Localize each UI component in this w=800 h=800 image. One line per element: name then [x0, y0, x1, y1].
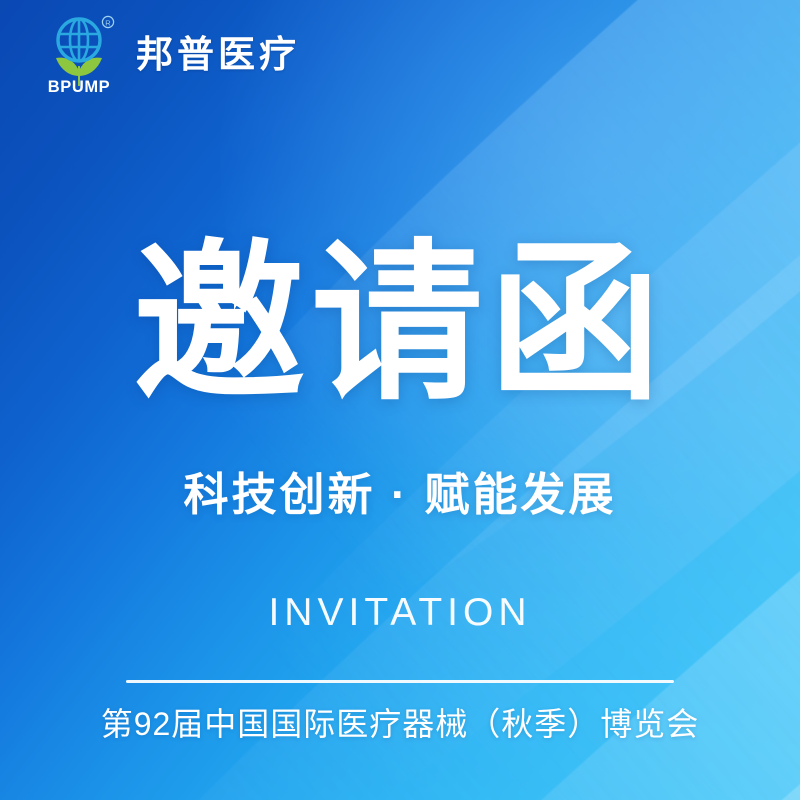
invitation-english-label: INVITATION: [268, 593, 531, 632]
bpump-wordmark-text: BPUMP: [48, 78, 111, 94]
brand-name: 邦普医疗: [136, 36, 300, 73]
poster-content: 邀请函 科技创新 · 赋能发展 INVITATION 第92届中国国际医疗器械（…: [0, 0, 800, 800]
divider-line: [126, 680, 674, 683]
sub-slogan: 科技创新 · 赋能发展: [184, 472, 617, 517]
bpump-logo-icon: R BPUMP: [42, 14, 116, 94]
registered-trademark-glyph: R: [105, 18, 111, 27]
invitation-poster: R BPUMP 邦普医疗 邀请函 科技创新 · 赋能发展 INVITATION …: [0, 0, 800, 800]
brand-header: R BPUMP 邦普医疗: [0, 0, 800, 108]
main-title: 邀请函: [133, 238, 667, 410]
event-name: 第92届中国国际医疗器械（秋季）博览会: [101, 705, 700, 743]
